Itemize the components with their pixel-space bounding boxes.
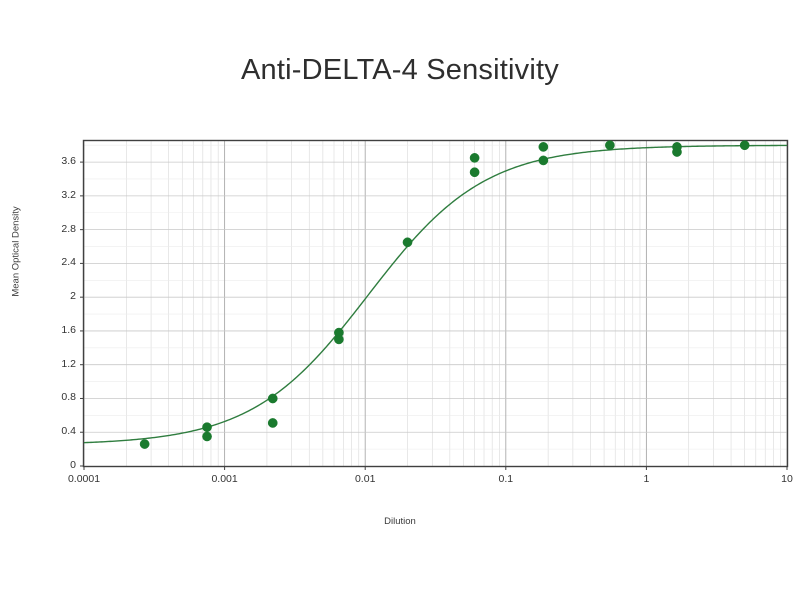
y-tick-label: 3.2: [36, 189, 76, 201]
major-y-gridlines: [84, 162, 787, 432]
axis-ticks: [80, 162, 787, 470]
minor-gridlines: [84, 141, 787, 466]
x-tick-label: 0.001: [195, 473, 255, 485]
y-tick-label: 2.4: [36, 256, 76, 268]
plot-area: [0, 0, 800, 600]
x-tick-label: 0.1: [476, 473, 536, 485]
x-tick-label: 10: [757, 473, 800, 485]
chart-figure: Anti-DELTA-4 Sensitivity Mean Optical De…: [0, 0, 800, 600]
x-tick-label: 1: [616, 473, 676, 485]
chart-title: Anti-DELTA-4 Sensitivity: [0, 54, 800, 87]
y-tick-label: 0.4: [36, 425, 76, 437]
y-tick-label: 3.6: [36, 155, 76, 167]
y-tick-label: 0: [36, 459, 76, 471]
y-axis-title: Mean Optical Density: [11, 182, 22, 322]
y-tick-label: 2.8: [36, 223, 76, 235]
y-tick-label: 1.2: [36, 358, 76, 370]
y-tick-label: 2: [36, 290, 76, 302]
x-tick-label: 0.01: [335, 473, 395, 485]
plot-frame: [84, 141, 788, 467]
data-points: [140, 141, 749, 449]
major-x-gridlines: [84, 141, 787, 466]
y-tick-label: 1.6: [36, 324, 76, 336]
x-axis-title: Dilution: [0, 516, 800, 527]
x-tick-label: 0.0001: [54, 473, 114, 485]
y-tick-label: 0.8: [36, 391, 76, 403]
